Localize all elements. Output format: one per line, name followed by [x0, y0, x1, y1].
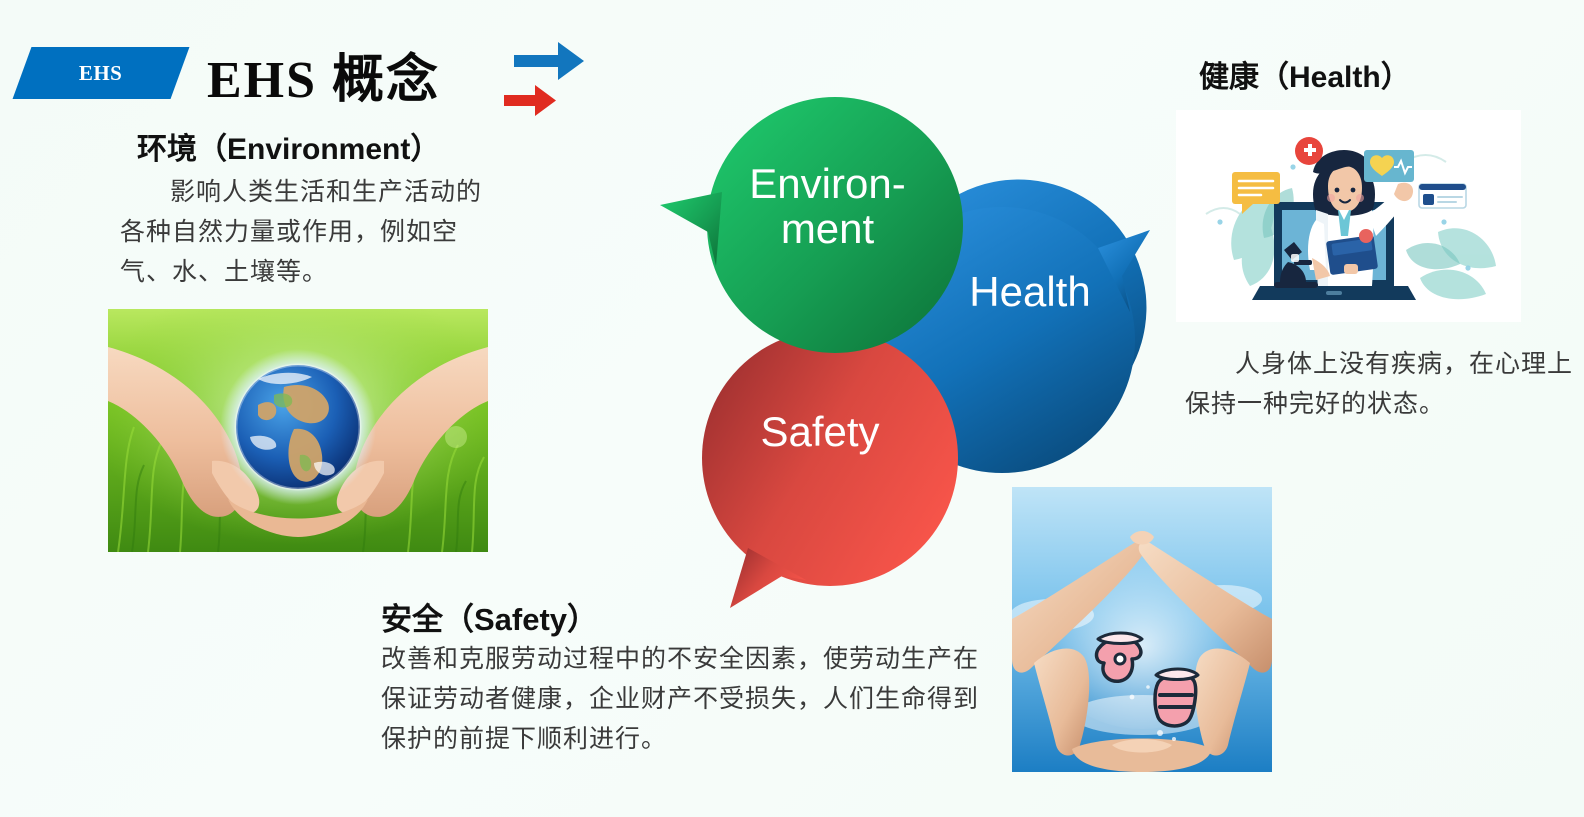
health-heading: 健康（Health） — [1199, 52, 1411, 96]
safety-body-text: 改善和克服劳动过程中的不安全因素，使劳动生产在保证劳动者健康，企业财产不受损失，… — [381, 640, 981, 760]
environment-heading-zh: 环境 — [137, 133, 197, 166]
safety-heading-en: Safety — [474, 602, 567, 637]
safety-heading-zh: 安全 — [381, 602, 443, 637]
slide-canvas: EHS EHS 概念 环境（Environment） 影响人类生活和生产活动的各… — [0, 0, 1584, 817]
environment-heading-en: Environment — [227, 133, 410, 166]
arrow-right-blue-icon — [514, 40, 586, 84]
hands-holding-earth-photo — [108, 309, 488, 552]
page-title: EHS 概念 — [207, 37, 440, 112]
ehs-badge-label: EHS — [79, 61, 123, 86]
ehs-bubble-diagram: Environ-ment Health Safety — [630, 80, 1150, 625]
arrow-right-red-icon — [504, 84, 558, 118]
environment-body-text: 影响人类生活和生产活动的各种自然力量或作用，例如空气、水、土壤等。 — [120, 173, 492, 293]
health-heading-en: Health — [1289, 61, 1381, 94]
bubble-safety — [702, 330, 958, 608]
environment-heading: 环境（Environment） — [137, 124, 440, 168]
telemedicine-doctor-illustration — [1176, 110, 1521, 322]
bubble-environment — [660, 97, 963, 353]
ehs-badge: EHS — [13, 47, 190, 99]
health-heading-zh: 健康 — [1199, 61, 1259, 94]
safety-heading: 安全（Safety） — [381, 594, 598, 639]
health-body-text: 人身体上没有疾病，在心理上保持一种完好的状态。 — [1185, 345, 1575, 425]
